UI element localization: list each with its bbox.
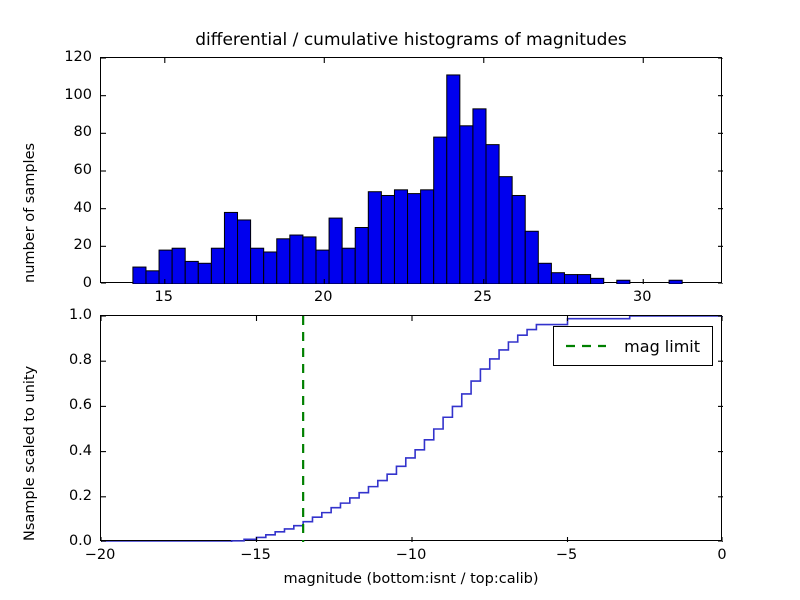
differential-histogram-plot (101, 58, 723, 284)
histogram-bar (355, 228, 368, 285)
histogram-bar (342, 248, 355, 284)
histogram-bar (290, 235, 303, 284)
histogram-bar (211, 248, 224, 284)
bottom-ytick-0.6: 0.6 (0, 397, 92, 413)
histogram-bar (591, 278, 604, 284)
bottom-xtick--5: −5 (556, 547, 577, 563)
histogram-bar (329, 218, 342, 284)
histogram-bar (564, 275, 577, 284)
histogram-bar (512, 195, 525, 284)
histogram-bar (394, 190, 407, 284)
bottom-xtick--20: −20 (85, 547, 116, 563)
legend-label-mag-limit: mag limit (624, 337, 700, 356)
histogram-bar (551, 273, 564, 284)
top-ytick-120: 120 (0, 49, 92, 65)
top-xtick-20: 20 (314, 289, 332, 305)
histogram-bar (447, 75, 460, 284)
top-xtick-25: 25 (474, 289, 492, 305)
bottom-xtick--15: −15 (240, 547, 271, 563)
histogram-bar (408, 194, 421, 284)
top-ytick-20: 20 (0, 237, 92, 253)
mag-limit-legend-swatch (564, 339, 608, 353)
histogram-bar (578, 275, 591, 284)
cumulative-histogram-panel: mag limit (100, 315, 722, 541)
histogram-bar (434, 137, 447, 284)
histogram-bar (133, 267, 146, 284)
histogram-bar (185, 261, 198, 284)
histogram-bar (538, 263, 551, 284)
histogram-bar (316, 250, 329, 284)
histogram-bar (486, 145, 499, 284)
histogram-bar (617, 280, 630, 284)
histogram-bar (172, 248, 185, 284)
histogram-bar (251, 248, 264, 284)
histogram-bar (224, 212, 237, 284)
bottom-ytick-0.4: 0.4 (0, 443, 92, 459)
bottom-ytick-1: 1.0 (0, 307, 92, 323)
top-ytick-60: 60 (0, 162, 92, 178)
top-xtick-30: 30 (633, 289, 651, 305)
top-ytick-0: 0 (0, 275, 92, 291)
top-xtick-15: 15 (155, 289, 173, 305)
bottom-xtick--10: −10 (396, 547, 427, 563)
bottom-ytick-0: 0.0 (0, 533, 92, 549)
histogram-bar (277, 239, 290, 284)
histogram-bar (159, 250, 172, 284)
differential-histogram-panel (100, 57, 722, 283)
figure-title: differential / cumulative histograms of … (100, 30, 722, 50)
top-ytick-80: 80 (0, 124, 92, 140)
figure-x-label: magnitude (bottom:isnt / top:calib) (100, 571, 722, 587)
histogram-bar (368, 192, 381, 284)
histogram-bar (499, 177, 512, 284)
histogram-bar (303, 237, 316, 284)
histogram-bar (669, 280, 682, 284)
histogram-bar (473, 109, 486, 284)
top-ytick-40: 40 (0, 200, 92, 216)
legend[interactable]: mag limit (553, 326, 713, 366)
histogram-bar (525, 231, 538, 284)
histogram-bar (146, 271, 159, 284)
histogram-bar (460, 126, 473, 284)
bottom-ytick-0.2: 0.2 (0, 488, 92, 504)
figure-canvas: differential / cumulative histograms of … (0, 0, 800, 600)
bottom-xtick-0: 0 (717, 547, 726, 563)
histogram-bar (381, 195, 394, 284)
bottom-ytick-0.8: 0.8 (0, 352, 92, 368)
histogram-bar (198, 263, 211, 284)
histogram-bar (238, 220, 251, 284)
histogram-bar (421, 190, 434, 284)
histogram-bar (264, 252, 277, 284)
top-ytick-100: 100 (0, 87, 92, 103)
